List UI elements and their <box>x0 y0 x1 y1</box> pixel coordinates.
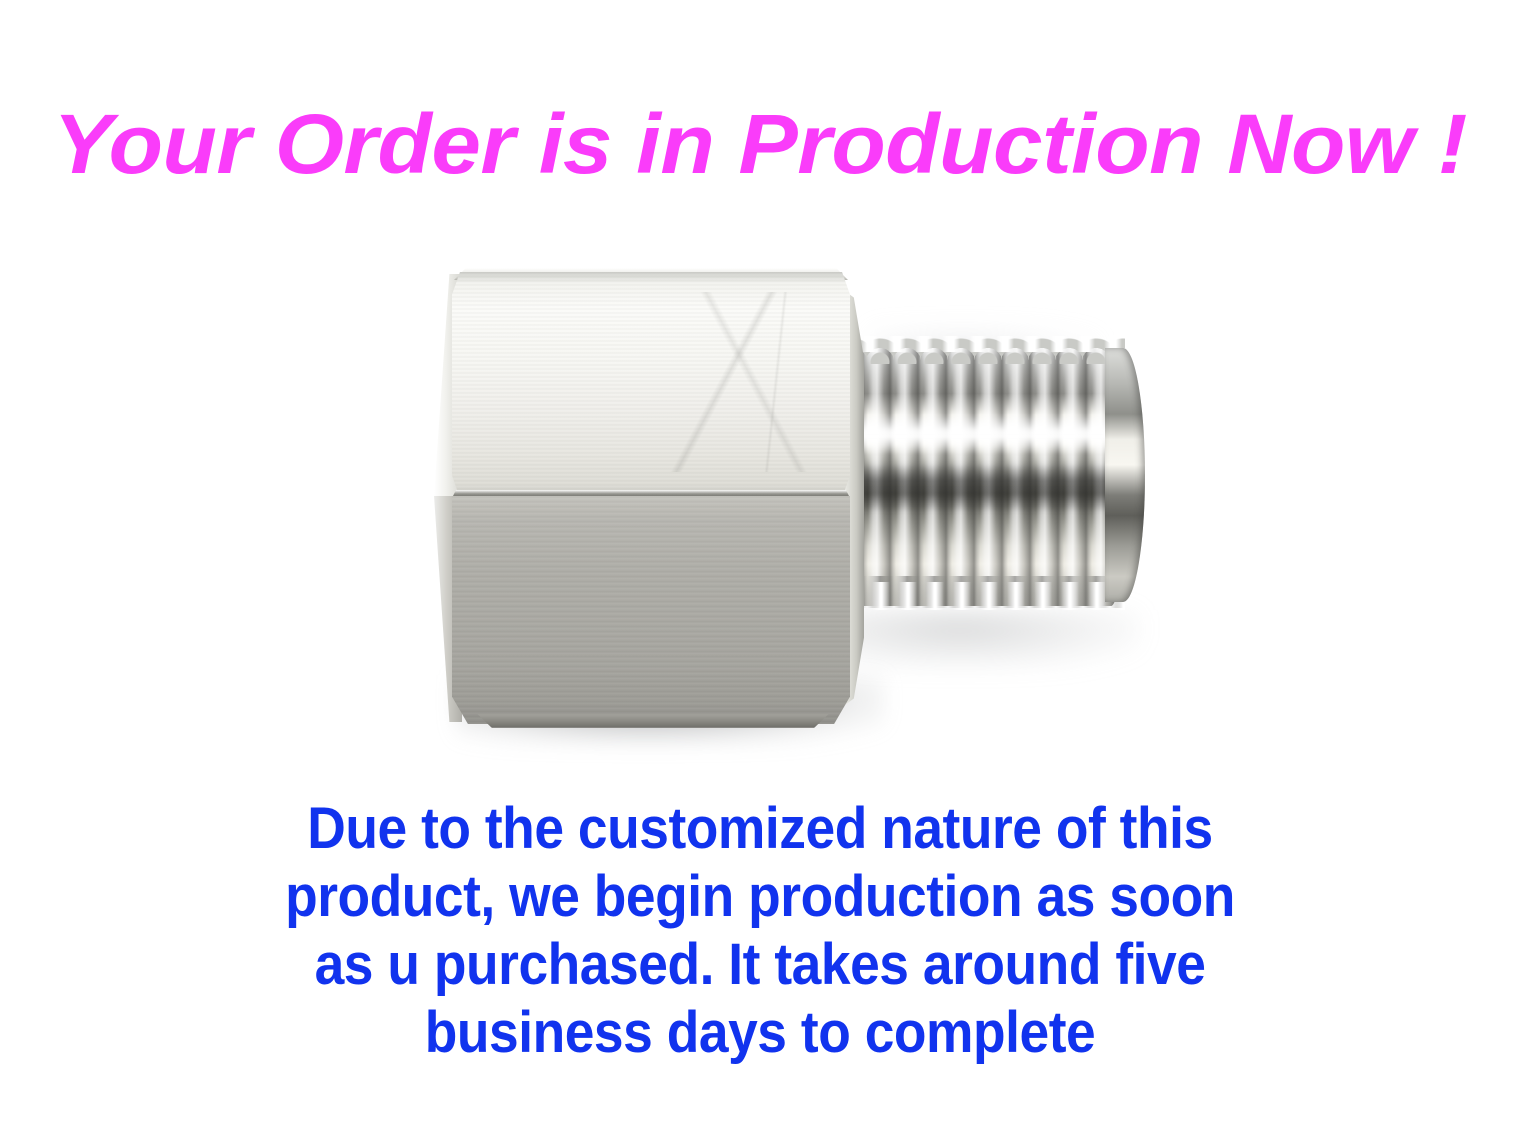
hex-bottom-chamfer <box>470 714 836 728</box>
thread-specular-band <box>840 414 1125 454</box>
hex-face-upper-scuffs <box>630 292 830 472</box>
thread-root-shadow-band <box>844 464 1112 512</box>
hex-nut-body <box>430 262 850 732</box>
thread-end-cap <box>1105 348 1145 602</box>
notice-line-2: product, we begin production as soon <box>61 863 1459 931</box>
notice-line-4: business days to complete <box>61 999 1459 1067</box>
product-photo <box>0 215 1520 785</box>
product-photo-stage <box>400 215 1200 785</box>
thread-crest-notches-bottom <box>840 582 1125 610</box>
thread-crest-notches-top <box>840 336 1125 352</box>
notice-line-3: as u purchased. It takes around five <box>61 931 1459 999</box>
male-threaded-nipple <box>830 330 1145 620</box>
page-title: Your Order is in Production Now ! <box>0 96 1520 192</box>
hex-face-lower-machining-lines <box>452 496 850 724</box>
notice-line-1: Due to the customized nature of this <box>61 795 1459 863</box>
promo-banner: Your Order is in Production Now ! <box>0 0 1520 1140</box>
production-notice: Due to the customized nature of this pro… <box>0 795 1520 1067</box>
